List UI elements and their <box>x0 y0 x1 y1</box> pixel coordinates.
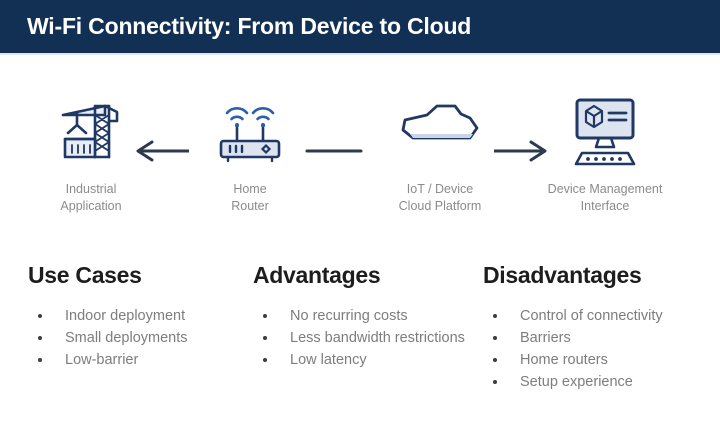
list-item-label: Less bandwidth restrictions <box>290 330 465 346</box>
page-title: Wi-Fi Connectivity: From Device to Cloud <box>27 13 471 40</box>
desktop-monitor-icon <box>530 95 680 167</box>
column-heading: Disadvantages <box>483 262 713 289</box>
list-item: Control of connectivity <box>483 306 713 327</box>
bullet-dot-icon <box>38 336 42 340</box>
column-heading: Use Cases <box>28 262 248 289</box>
flow-node-device-management-interface: Device Management Interface <box>530 95 680 215</box>
flow-node-label-line2: Cloud Platform <box>365 198 515 215</box>
flow-node-label: Industrial Application <box>16 181 166 215</box>
bullet-dot-icon <box>263 358 267 362</box>
flow-node-label-line1: Device Management <box>530 181 680 198</box>
list-item-label: Low latency <box>290 352 367 368</box>
list-item-label: Home routers <box>520 352 608 368</box>
bullet-dot-icon <box>493 314 497 318</box>
list-item: Barriers <box>483 328 713 349</box>
flow-node-label-line1: Industrial <box>16 181 166 198</box>
summary-columns: Use Cases Indoor deployment Small deploy… <box>0 262 720 444</box>
bullet-dot-icon <box>493 358 497 362</box>
slide-header: Wi-Fi Connectivity: From Device to Cloud <box>0 0 720 55</box>
list-item: No recurring costs <box>253 306 473 327</box>
column-advantages: Advantages No recurring costs Less bandw… <box>253 262 473 372</box>
bullet-list: Control of connectivity Barriers Home ro… <box>483 306 713 393</box>
column-heading: Advantages <box>253 262 473 289</box>
bullet-dot-icon <box>493 336 497 340</box>
flow-node-label-line2: Interface <box>530 198 680 215</box>
column-disadvantages: Disadvantages Control of connectivity Ba… <box>483 262 713 394</box>
flow-node-label-line1: Home <box>175 181 325 198</box>
bullet-list: Indoor deployment Small deployments Low-… <box>28 306 248 371</box>
wifi-router-icon <box>175 95 325 167</box>
list-item-label: Small deployments <box>65 330 188 346</box>
list-item: Home routers <box>483 350 713 371</box>
flow-node-label-line1: IoT / Device <box>365 181 515 198</box>
bullet-dot-icon <box>263 336 267 340</box>
list-item-label: Barriers <box>520 330 571 346</box>
flow-node-label: Device Management Interface <box>530 181 680 215</box>
flow-node-label: IoT / Device Cloud Platform <box>365 181 515 215</box>
line-connector <box>305 140 363 167</box>
bullet-list: No recurring costs Less bandwidth restri… <box>253 306 473 371</box>
list-item: Low latency <box>253 350 473 371</box>
list-item: Indoor deployment <box>28 306 248 327</box>
bullet-dot-icon <box>38 358 42 362</box>
bullet-dot-icon <box>493 380 497 384</box>
column-use-cases: Use Cases Indoor deployment Small deploy… <box>28 262 248 372</box>
list-item: Less bandwidth restrictions <box>253 328 473 349</box>
list-item-label: Indoor deployment <box>65 308 185 324</box>
flow-node-label: Home Router <box>175 181 325 215</box>
list-item-label: No recurring costs <box>290 308 408 324</box>
flow-node-home-router: Home Router <box>175 95 325 215</box>
list-item-label: Setup experience <box>520 374 633 390</box>
flow-node-label-line2: Application <box>16 198 166 215</box>
flow-node-label-line2: Router <box>175 198 325 215</box>
bullet-dot-icon <box>263 314 267 318</box>
connectivity-flow-diagram: Industrial Application <box>0 55 720 245</box>
list-item-label: Low-barrier <box>65 352 138 368</box>
list-item: Small deployments <box>28 328 248 349</box>
list-item: Low-barrier <box>28 350 248 371</box>
bullet-dot-icon <box>38 314 42 318</box>
list-item: Setup experience <box>483 372 713 393</box>
list-item-label: Control of connectivity <box>520 308 663 324</box>
